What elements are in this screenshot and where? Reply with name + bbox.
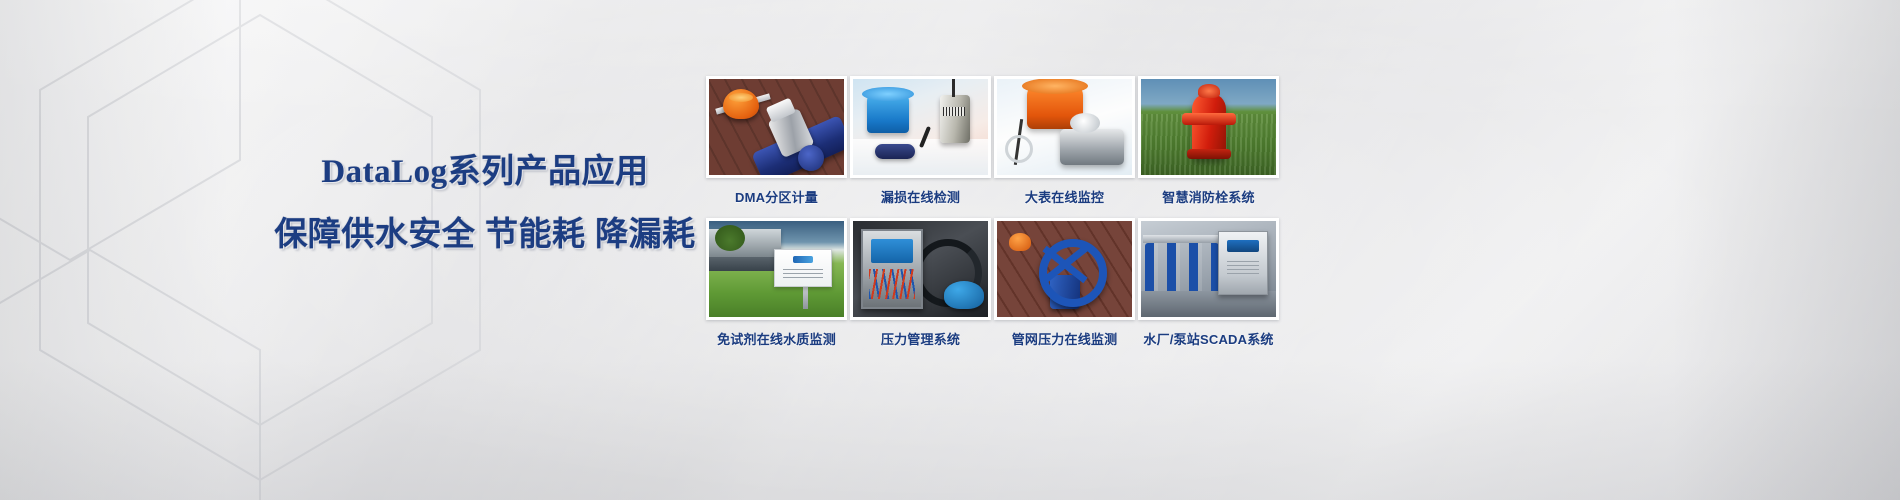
product-application-banner: DataLog系列产品应用 保障供水安全 节能耗 降漏耗 DMA分区计量 xyxy=(0,0,1900,500)
photo-frame xyxy=(706,76,847,178)
smart-hydrant-system-photo xyxy=(1141,79,1276,175)
pressure-management-system-photo xyxy=(853,221,988,317)
product-card-large-meter-online-monitoring[interactable]: 大表在线监控 xyxy=(994,76,1135,216)
product-caption: 大表在线监控 xyxy=(1025,187,1104,206)
product-caption: 免试剂在线水质监测 xyxy=(717,329,836,348)
product-caption: DMA分区计量 xyxy=(735,187,818,206)
photo-frame xyxy=(850,218,991,320)
leakage-online-detection-photo xyxy=(853,79,988,175)
pipe-network-pressure-online-monitoring-photo xyxy=(997,221,1132,317)
large-meter-online-monitoring-photo xyxy=(997,79,1132,175)
photo-frame xyxy=(706,218,847,320)
photo-frame xyxy=(850,76,991,178)
product-card-pressure-management-system[interactable]: 压力管理系统 xyxy=(850,218,991,358)
product-caption: 漏损在线检测 xyxy=(881,187,960,206)
reagent-free-water-quality-monitoring-photo xyxy=(709,221,844,317)
dma-zone-metering-photo xyxy=(709,79,844,175)
product-grid: DMA分区计量 漏损在线检测 xyxy=(706,76,1279,358)
product-card-dma-zone-metering[interactable]: DMA分区计量 xyxy=(706,76,847,216)
product-card-pipe-network-pressure-online-monitoring[interactable]: 管网压力在线监测 xyxy=(994,218,1135,358)
product-card-reagent-free-water-quality-monitoring[interactable]: 免试剂在线水质监测 xyxy=(706,218,847,358)
product-caption: 水厂/泵站SCADA系统 xyxy=(1143,329,1273,348)
headline-line-1: DataLog系列产品应用 xyxy=(250,150,720,194)
product-caption: 压力管理系统 xyxy=(881,329,960,348)
headline-block: DataLog系列产品应用 保障供水安全 节能耗 降漏耗 xyxy=(250,150,720,256)
product-caption: 智慧消防栓系统 xyxy=(1162,187,1254,206)
product-card-smart-hydrant-system[interactable]: 智慧消防栓系统 xyxy=(1138,76,1279,216)
product-card-leakage-online-detection[interactable]: 漏损在线检测 xyxy=(850,76,991,216)
product-caption: 管网压力在线监测 xyxy=(1012,329,1118,348)
photo-frame xyxy=(1138,218,1279,320)
headline-line-2: 保障供水安全 节能耗 降漏耗 xyxy=(250,212,720,256)
photo-frame xyxy=(994,218,1135,320)
waterworks-pump-station-scada-system-photo xyxy=(1141,221,1276,317)
photo-frame xyxy=(994,76,1135,178)
photo-frame xyxy=(1138,76,1279,178)
product-card-waterworks-pump-station-scada-system[interactable]: 水厂/泵站SCADA系统 xyxy=(1138,218,1279,358)
